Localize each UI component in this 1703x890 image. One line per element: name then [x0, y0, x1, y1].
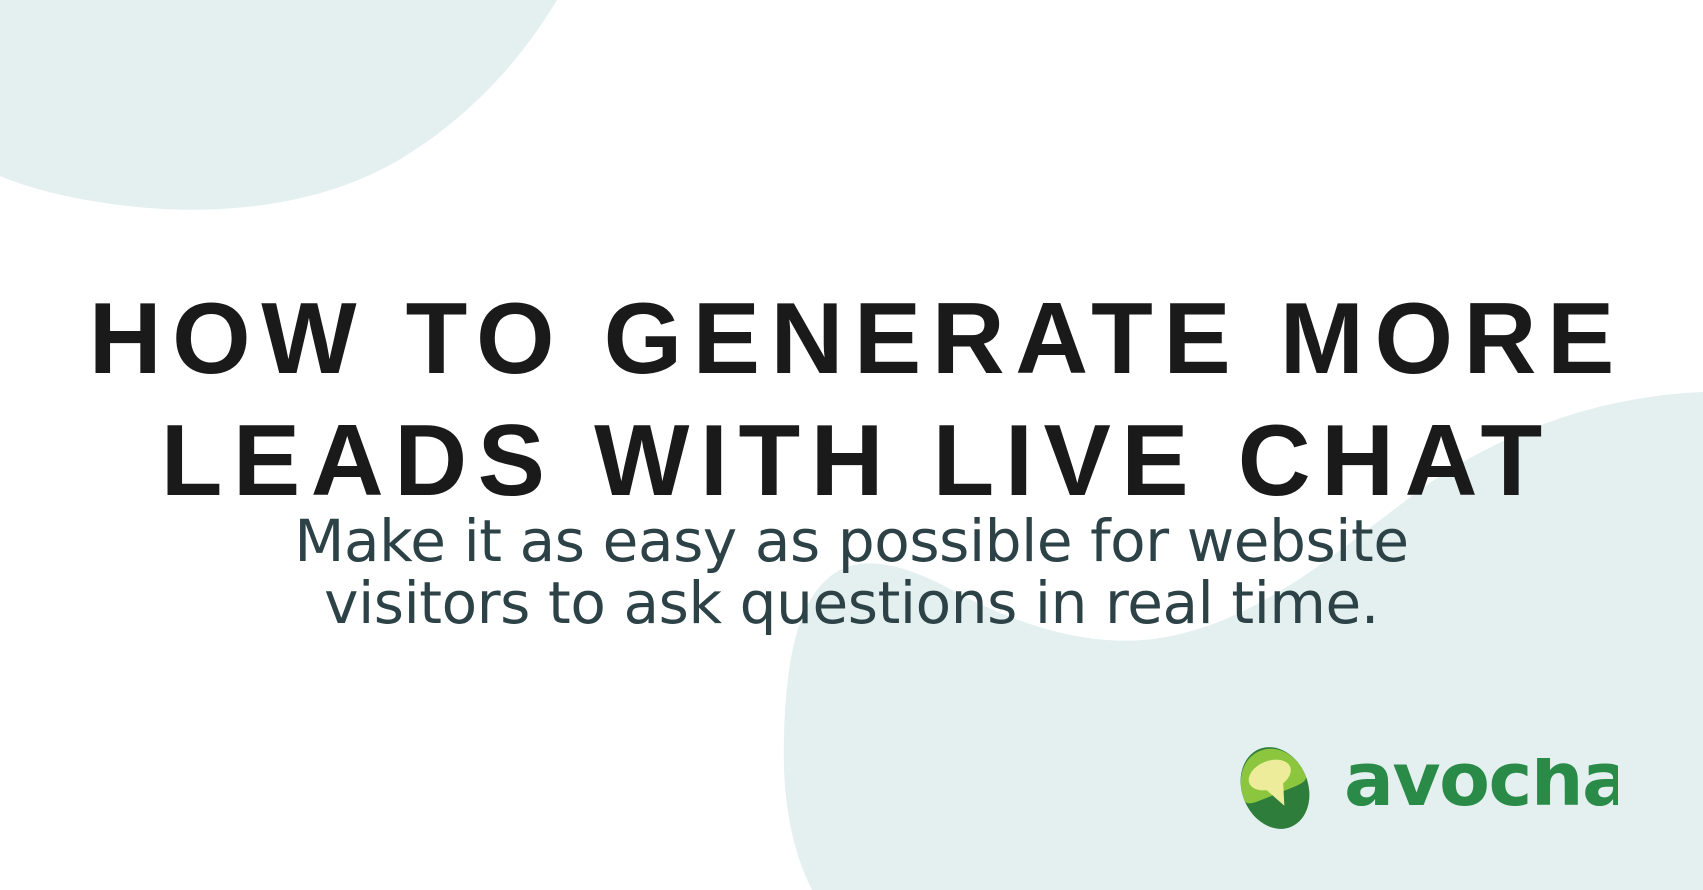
subhead-line-1: Make it as easy as possible for website — [0, 510, 1703, 572]
avochato-wordmark-text: avochato — [1344, 758, 1618, 818]
headline-line-1: HOW TO GENERATE MORE — [0, 278, 1703, 400]
page-subtitle: Make it as easy as possible for website … — [0, 510, 1703, 634]
avochato-logo: avochato — [1224, 742, 1618, 834]
headline-line-2: LEADS WITH LIVE CHAT — [0, 400, 1703, 522]
avocado-chat-bubble-icon — [1224, 742, 1326, 834]
social-card: HOW TO GENERATE MORE LEADS WITH LIVE CHA… — [0, 0, 1703, 890]
subhead-line-2: visitors to ask questions in real time. — [0, 572, 1703, 634]
page-title: HOW TO GENERATE MORE LEADS WITH LIVE CHA… — [0, 278, 1703, 522]
card-content: HOW TO GENERATE MORE LEADS WITH LIVE CHA… — [0, 0, 1703, 890]
avochato-wordmark: avochato — [1344, 758, 1618, 818]
